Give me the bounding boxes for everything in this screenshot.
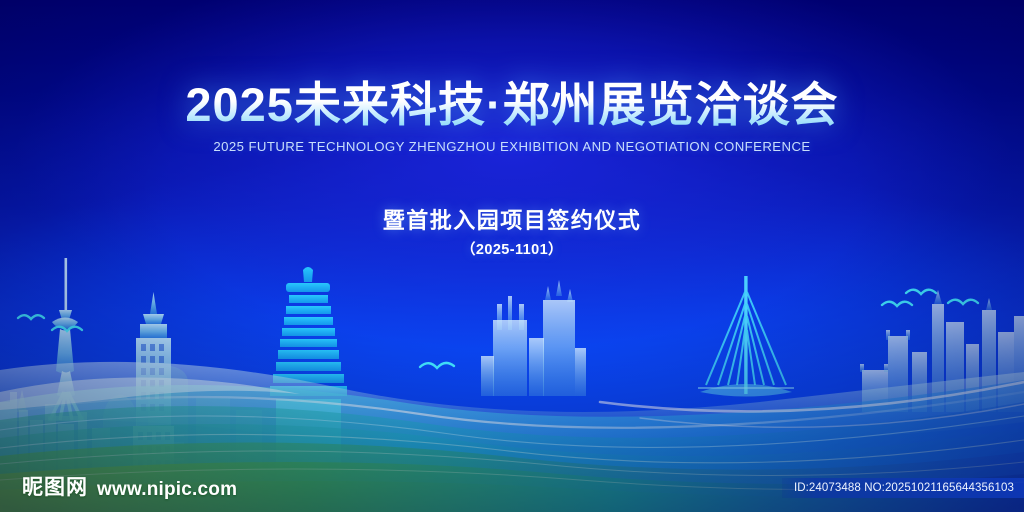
poster-canvas: 2025未来科技·郑州展览洽谈会 2025 FUTURE TECHNOLOGY … [0,0,1024,512]
page-title-english: 2025 FUTURE TECHNOLOGY ZHENGZHOU EXHIBIT… [0,139,1024,154]
watermark: 昵图网 www.nipic.com [22,471,237,501]
twin-spire-buildings-icon [481,280,586,396]
image-id-badge: ID:24073488 NO:20251021165644356103 [782,478,1024,498]
headline-block: 2025未来科技·郑州展览洽谈会 2025 FUTURE TECHNOLOGY … [0,80,1024,154]
subtitle-chinese: 暨首批入园项目签约仪式 [0,203,1024,235]
watermark-url: www.nipic.com [97,479,237,501]
subtitle-date: （2025-1101） [0,238,1024,259]
page-title: 2025未来科技·郑州展览洽谈会 [0,80,1024,130]
watermark-brand: 昵图网 [22,471,88,501]
footer-bar: 昵图网 www.nipic.com ID:24073488 NO:2025102… [0,462,1024,512]
cable-stayed-bridge-icon [698,276,794,397]
